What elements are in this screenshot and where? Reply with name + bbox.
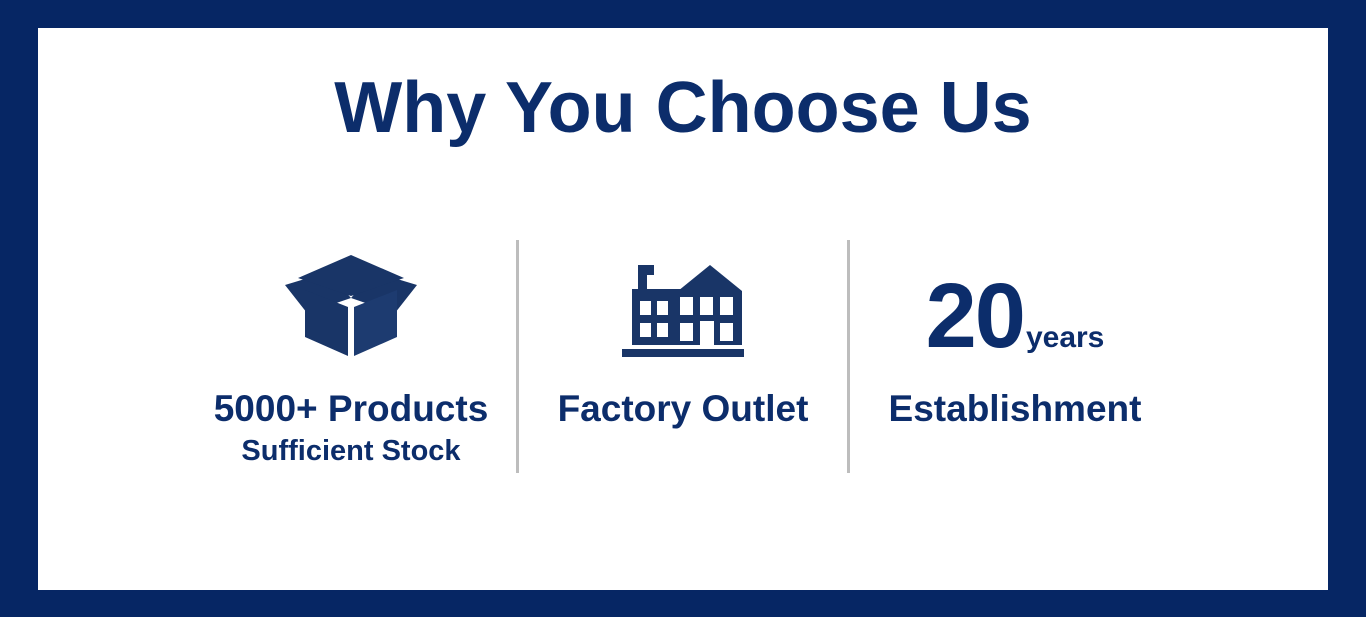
- features-row: 5000+ Products Sufficient Stock: [38, 240, 1328, 490]
- feature-label-main: Factory Outlet: [558, 390, 809, 429]
- factory-building-icon: [620, 240, 746, 374]
- years-count: 20: [926, 270, 1024, 362]
- feature-products: 5000+ Products Sufficient Stock: [186, 240, 516, 466]
- feature-establishment: 20 years Establishment: [850, 240, 1180, 429]
- feature-factory: Factory Outlet: [519, 240, 847, 429]
- banner-card: Why You Choose Us: [38, 28, 1328, 590]
- years-unit: years: [1026, 323, 1104, 353]
- page-title: Why You Choose Us: [334, 28, 1031, 144]
- feature-label-sub: Sufficient Stock: [241, 436, 460, 466]
- feature-label-main: 5000+ Products: [214, 390, 489, 429]
- years-number: 20 years: [926, 240, 1105, 374]
- feature-label-main: Establishment: [889, 390, 1142, 429]
- promo-banner: Why You Choose Us: [0, 0, 1366, 617]
- open-box-icon: [281, 240, 421, 374]
